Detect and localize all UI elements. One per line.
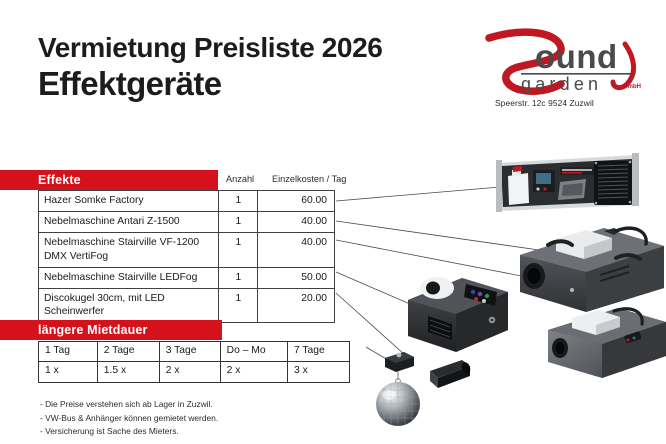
page-title: Vermietung Preisliste 2026 Effektgeräte — [38, 33, 382, 103]
soundgarden-logo: ound garden GmbH Speerstr. 12c 9524 Zuzw… — [477, 28, 657, 114]
duration-header-cell: 1 Tag — [39, 342, 98, 362]
duration-factor-cell: 1.5 x — [97, 362, 159, 382]
table-row: Hazer Somke Factory 1 60.00 — [39, 191, 335, 212]
row-price: 20.00 — [258, 288, 335, 322]
column-header-anzahl: Anzahl — [226, 174, 254, 184]
row-qty: 1 — [219, 267, 258, 288]
row-name: Discokugel 30cm, mit LED Scheinwerfer — [39, 288, 219, 322]
table-row: Nebelmaschine Stairville VF-1200 DMX Ver… — [39, 233, 335, 267]
row-qty: 1 — [219, 212, 258, 233]
section-bar-mietdauer: längere Mietdauer — [0, 320, 222, 340]
row-price: 50.00 — [258, 267, 335, 288]
fog-machine-vertifog-photo — [548, 308, 666, 378]
logo-word-top: ound — [535, 38, 618, 75]
row-name: Nebelmaschine Stairville LEDFog — [39, 267, 219, 288]
row-name: Nebelmaschine Stairville VF-1200 DMX Ver… — [39, 233, 219, 267]
duration-factor-cell: 3 x — [287, 362, 349, 382]
hazer-smoke-factory-photo — [496, 153, 639, 212]
row-price: 60.00 — [258, 191, 335, 212]
duration-header-cell: 7 Tage — [287, 342, 349, 362]
led-spotlight-photo — [430, 360, 472, 388]
page-title-line1: Vermietung Preisliste 2026 — [38, 33, 382, 62]
duration-factor-cell: 2 x — [159, 362, 220, 382]
row-qty: 1 — [219, 233, 258, 267]
row-name: Hazer Somke Factory — [39, 191, 219, 212]
footnote-item: - Die Preise verstehen sich ab Lager in … — [40, 398, 218, 412]
duration-factor-cell: 1 x — [39, 362, 98, 382]
duration-factor-cell: 2 x — [220, 362, 287, 382]
footnote-item: - VW-Bus & Anhänger können gemietet werd… — [40, 412, 218, 426]
leader-line-row4 — [336, 272, 470, 330]
effects-table: Hazer Somke Factory 1 60.00 Nebelmaschin… — [38, 190, 335, 323]
section-bar-effekte-label: Effekte — [38, 173, 81, 187]
section-bar-effekte: Effekte — [0, 170, 218, 190]
logo-suffix: GmbH — [623, 84, 641, 90]
duration-header-cell: 2 Tage — [97, 342, 159, 362]
row-price: 40.00 — [258, 233, 335, 267]
duration-factor-row: 1 x 1.5 x 2 x 2 x 3 x — [39, 362, 350, 382]
table-row: Discokugel 30cm, mit LED Scheinwerfer 1 … — [39, 288, 335, 322]
leader-line-row3 — [336, 240, 630, 297]
leader-lines — [336, 187, 630, 355]
leader-line-row1 — [336, 187, 500, 201]
leader-line-row2 — [336, 221, 560, 253]
fog-machine-antari-photo — [520, 228, 664, 312]
row-qty: 1 — [219, 288, 258, 322]
duration-header-cell: Do – Mo — [220, 342, 287, 362]
duration-table: 1 Tag 2 Tage 3 Tage Do – Mo 7 Tage 1 x 1… — [38, 341, 350, 383]
disco-ball-photo — [366, 347, 472, 426]
column-header-einzelkosten: Einzelkosten / Tag — [272, 174, 346, 184]
row-price: 40.00 — [258, 212, 335, 233]
row-qty: 1 — [219, 191, 258, 212]
footnote-item: - Versicherung ist Sache des Mieters. — [40, 425, 218, 439]
table-row: Nebelmaschine Stairville LEDFog 1 50.00 — [39, 267, 335, 288]
fog-machine-ledfog-photo — [408, 277, 508, 352]
logo-address: Speerstr. 12c 9524 Zuzwil — [495, 98, 594, 108]
duration-header-row: 1 Tag 2 Tage 3 Tage Do – Mo 7 Tage — [39, 342, 350, 362]
row-name: Nebelmaschine Antari Z-1500 — [39, 212, 219, 233]
duration-header-cell: 3 Tage — [159, 342, 220, 362]
section-bar-mietdauer-label: längere Mietdauer — [38, 323, 148, 337]
page-title-line2: Effektgeräte — [38, 66, 382, 103]
logo-graphic: ound garden GmbH — [477, 28, 657, 100]
price-list-page: Vermietung Preisliste 2026 Effektgeräte … — [0, 0, 666, 444]
table-row: Nebelmaschine Antari Z-1500 1 40.00 — [39, 212, 335, 233]
logo-word-bottom: garden — [521, 74, 602, 94]
footnotes: - Die Preise verstehen sich ab Lager in … — [40, 398, 218, 439]
